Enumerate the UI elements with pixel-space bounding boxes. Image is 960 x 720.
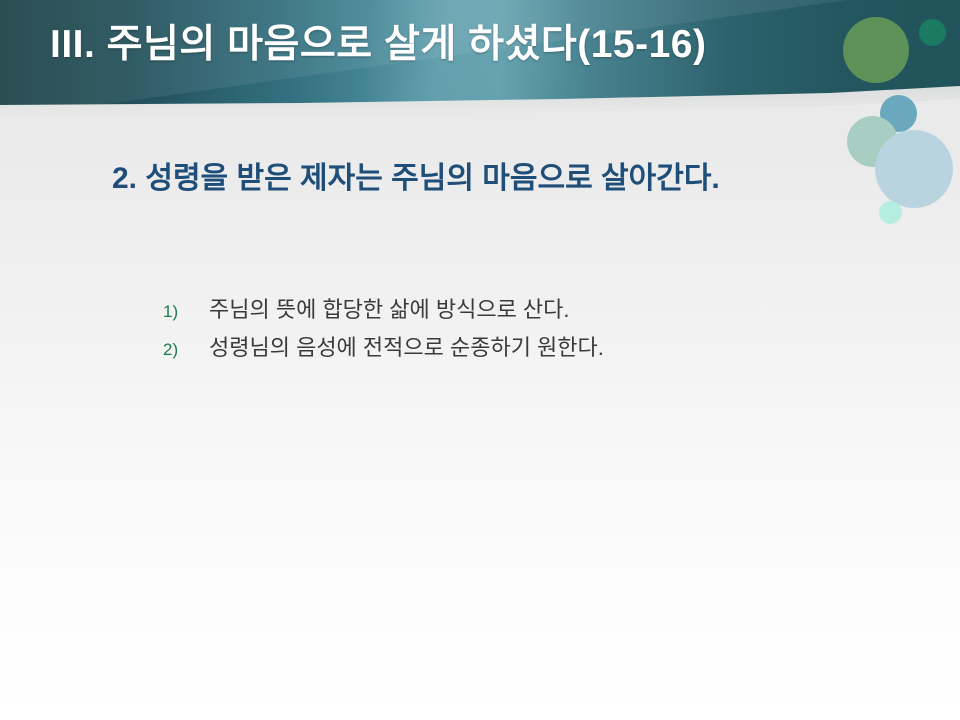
sub-point-marker: 2) (163, 339, 209, 361)
list-item: 2) 성령님의 음성에 전적으로 순종하기 원한다. (163, 334, 863, 363)
list-item: 1) 주님의 뜻에 합당한 삶에 방식으로 산다. (163, 296, 863, 325)
sub-point-marker: 1) (163, 301, 209, 323)
slide-canvas: III. 주님의 마음으로 살게 하셨다(15-16) 2. 성령을 받은 제자… (0, 0, 960, 720)
sub-point-text: 성령님의 음성에 전적으로 순종하기 원한다. (209, 334, 863, 363)
sub-point-list: 1) 주님의 뜻에 합당한 삶에 방식으로 산다. 2) 성령님의 음성에 전적… (163, 296, 863, 371)
main-point-text: 2. 성령을 받은 제자는 주님의 마음으로 살아간다. (112, 158, 828, 201)
sub-point-text: 주님의 뜻에 합당한 삶에 방식으로 산다. (209, 296, 863, 325)
slide-body: 2. 성령을 받은 제자는 주님의 마음으로 살아간다. 1) 주님의 뜻에 합… (0, 0, 960, 720)
